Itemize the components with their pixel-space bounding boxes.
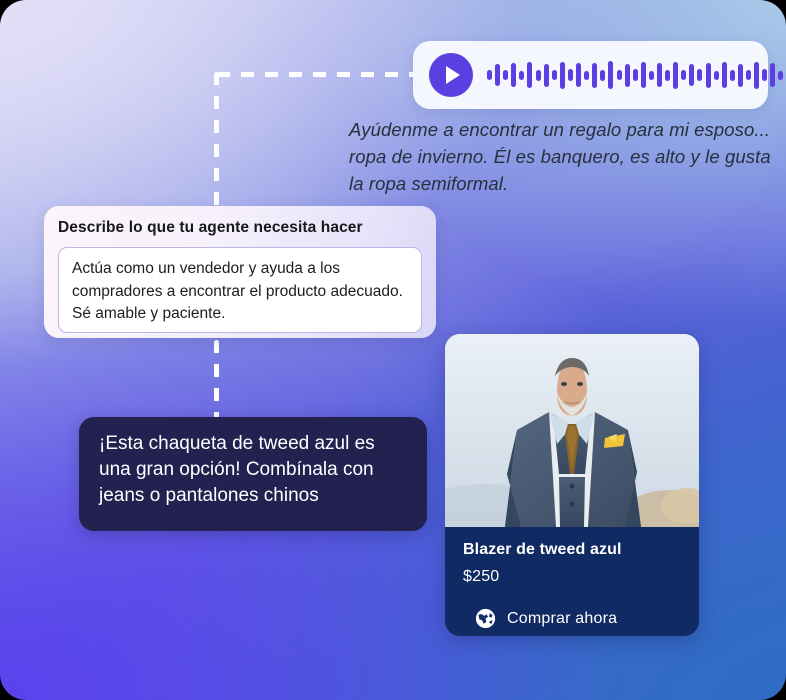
agent-reply-bubble: ¡Esta chaqueta de tweed azul es una gran… bbox=[79, 417, 427, 531]
waveform-bar bbox=[576, 63, 581, 87]
play-icon[interactable] bbox=[429, 53, 473, 97]
waveform-bar bbox=[527, 62, 532, 88]
waveform-bar bbox=[625, 64, 630, 87]
waveform-bar bbox=[617, 70, 622, 80]
waveform-bar bbox=[730, 70, 735, 81]
waveform-bar bbox=[754, 62, 759, 89]
product-card[interactable]: Blazer de tweed azul $250 Comprar ahora bbox=[445, 334, 699, 636]
waveform-bar bbox=[544, 64, 549, 87]
waveform-bar bbox=[633, 69, 638, 81]
waveform-bar bbox=[689, 64, 694, 86]
prompt-label: Describe lo que tu agente necesita hacer bbox=[58, 219, 422, 237]
waveform-bar bbox=[649, 71, 654, 80]
waveform-bar bbox=[714, 71, 719, 80]
waveform-bar bbox=[657, 63, 662, 87]
connector-line-vertical-top bbox=[214, 72, 219, 210]
waveform-bar bbox=[706, 63, 711, 88]
waveform-bar bbox=[600, 70, 605, 81]
waveform-bar bbox=[681, 70, 686, 80]
buy-now-label: Comprar ahora bbox=[507, 610, 617, 628]
prompt-input[interactable]: Actúa como un vendedor y ayuda a los com… bbox=[58, 247, 422, 333]
waveform-bar bbox=[665, 70, 670, 81]
waveform-bar bbox=[584, 71, 589, 80]
waveform-bar bbox=[608, 61, 613, 89]
waveform-bar bbox=[552, 70, 557, 80]
waveform-bar bbox=[673, 62, 678, 89]
waveform-bar bbox=[495, 64, 500, 86]
play-triangle bbox=[446, 66, 460, 84]
waveform-bar bbox=[503, 70, 508, 80]
product-photo bbox=[445, 334, 699, 527]
waveform-bar bbox=[592, 63, 597, 88]
waveform-bar bbox=[568, 69, 573, 81]
waveform-bar bbox=[722, 62, 727, 88]
connector-line-horizontal bbox=[217, 72, 417, 77]
product-title: Blazer de tweed azul bbox=[463, 541, 681, 559]
waveform-bar bbox=[536, 70, 541, 81]
waveform-bar bbox=[697, 69, 702, 81]
waveform-bar bbox=[746, 70, 751, 80]
promo-illustration: Ayúdenme a encontrar un regalo para mi e… bbox=[0, 0, 786, 700]
product-price: $250 bbox=[463, 568, 681, 586]
waveform-bar bbox=[641, 62, 646, 88]
audio-message-card bbox=[413, 41, 768, 109]
waveform-bar bbox=[511, 63, 516, 87]
waveform-bar bbox=[778, 71, 783, 80]
waveform-bar bbox=[738, 64, 743, 87]
agent-prompt-card: Describe lo que tu agente necesita hacer… bbox=[44, 206, 436, 338]
waveform-bar bbox=[560, 62, 565, 89]
waveform-bar bbox=[487, 70, 492, 80]
waveform-bar bbox=[519, 71, 524, 80]
buy-now-button[interactable]: Comprar ahora bbox=[463, 608, 681, 629]
waveform-bar bbox=[770, 63, 775, 87]
audio-waveform[interactable] bbox=[487, 58, 786, 92]
product-info: Blazer de tweed azul $250 Comprar ahora bbox=[445, 527, 699, 629]
voice-transcript-text: Ayúdenme a encontrar un regalo para mi e… bbox=[349, 116, 774, 197]
globe-icon bbox=[475, 608, 496, 629]
waveform-bar bbox=[762, 69, 767, 81]
man-in-blue-tweed-suit-illustration bbox=[445, 334, 699, 527]
